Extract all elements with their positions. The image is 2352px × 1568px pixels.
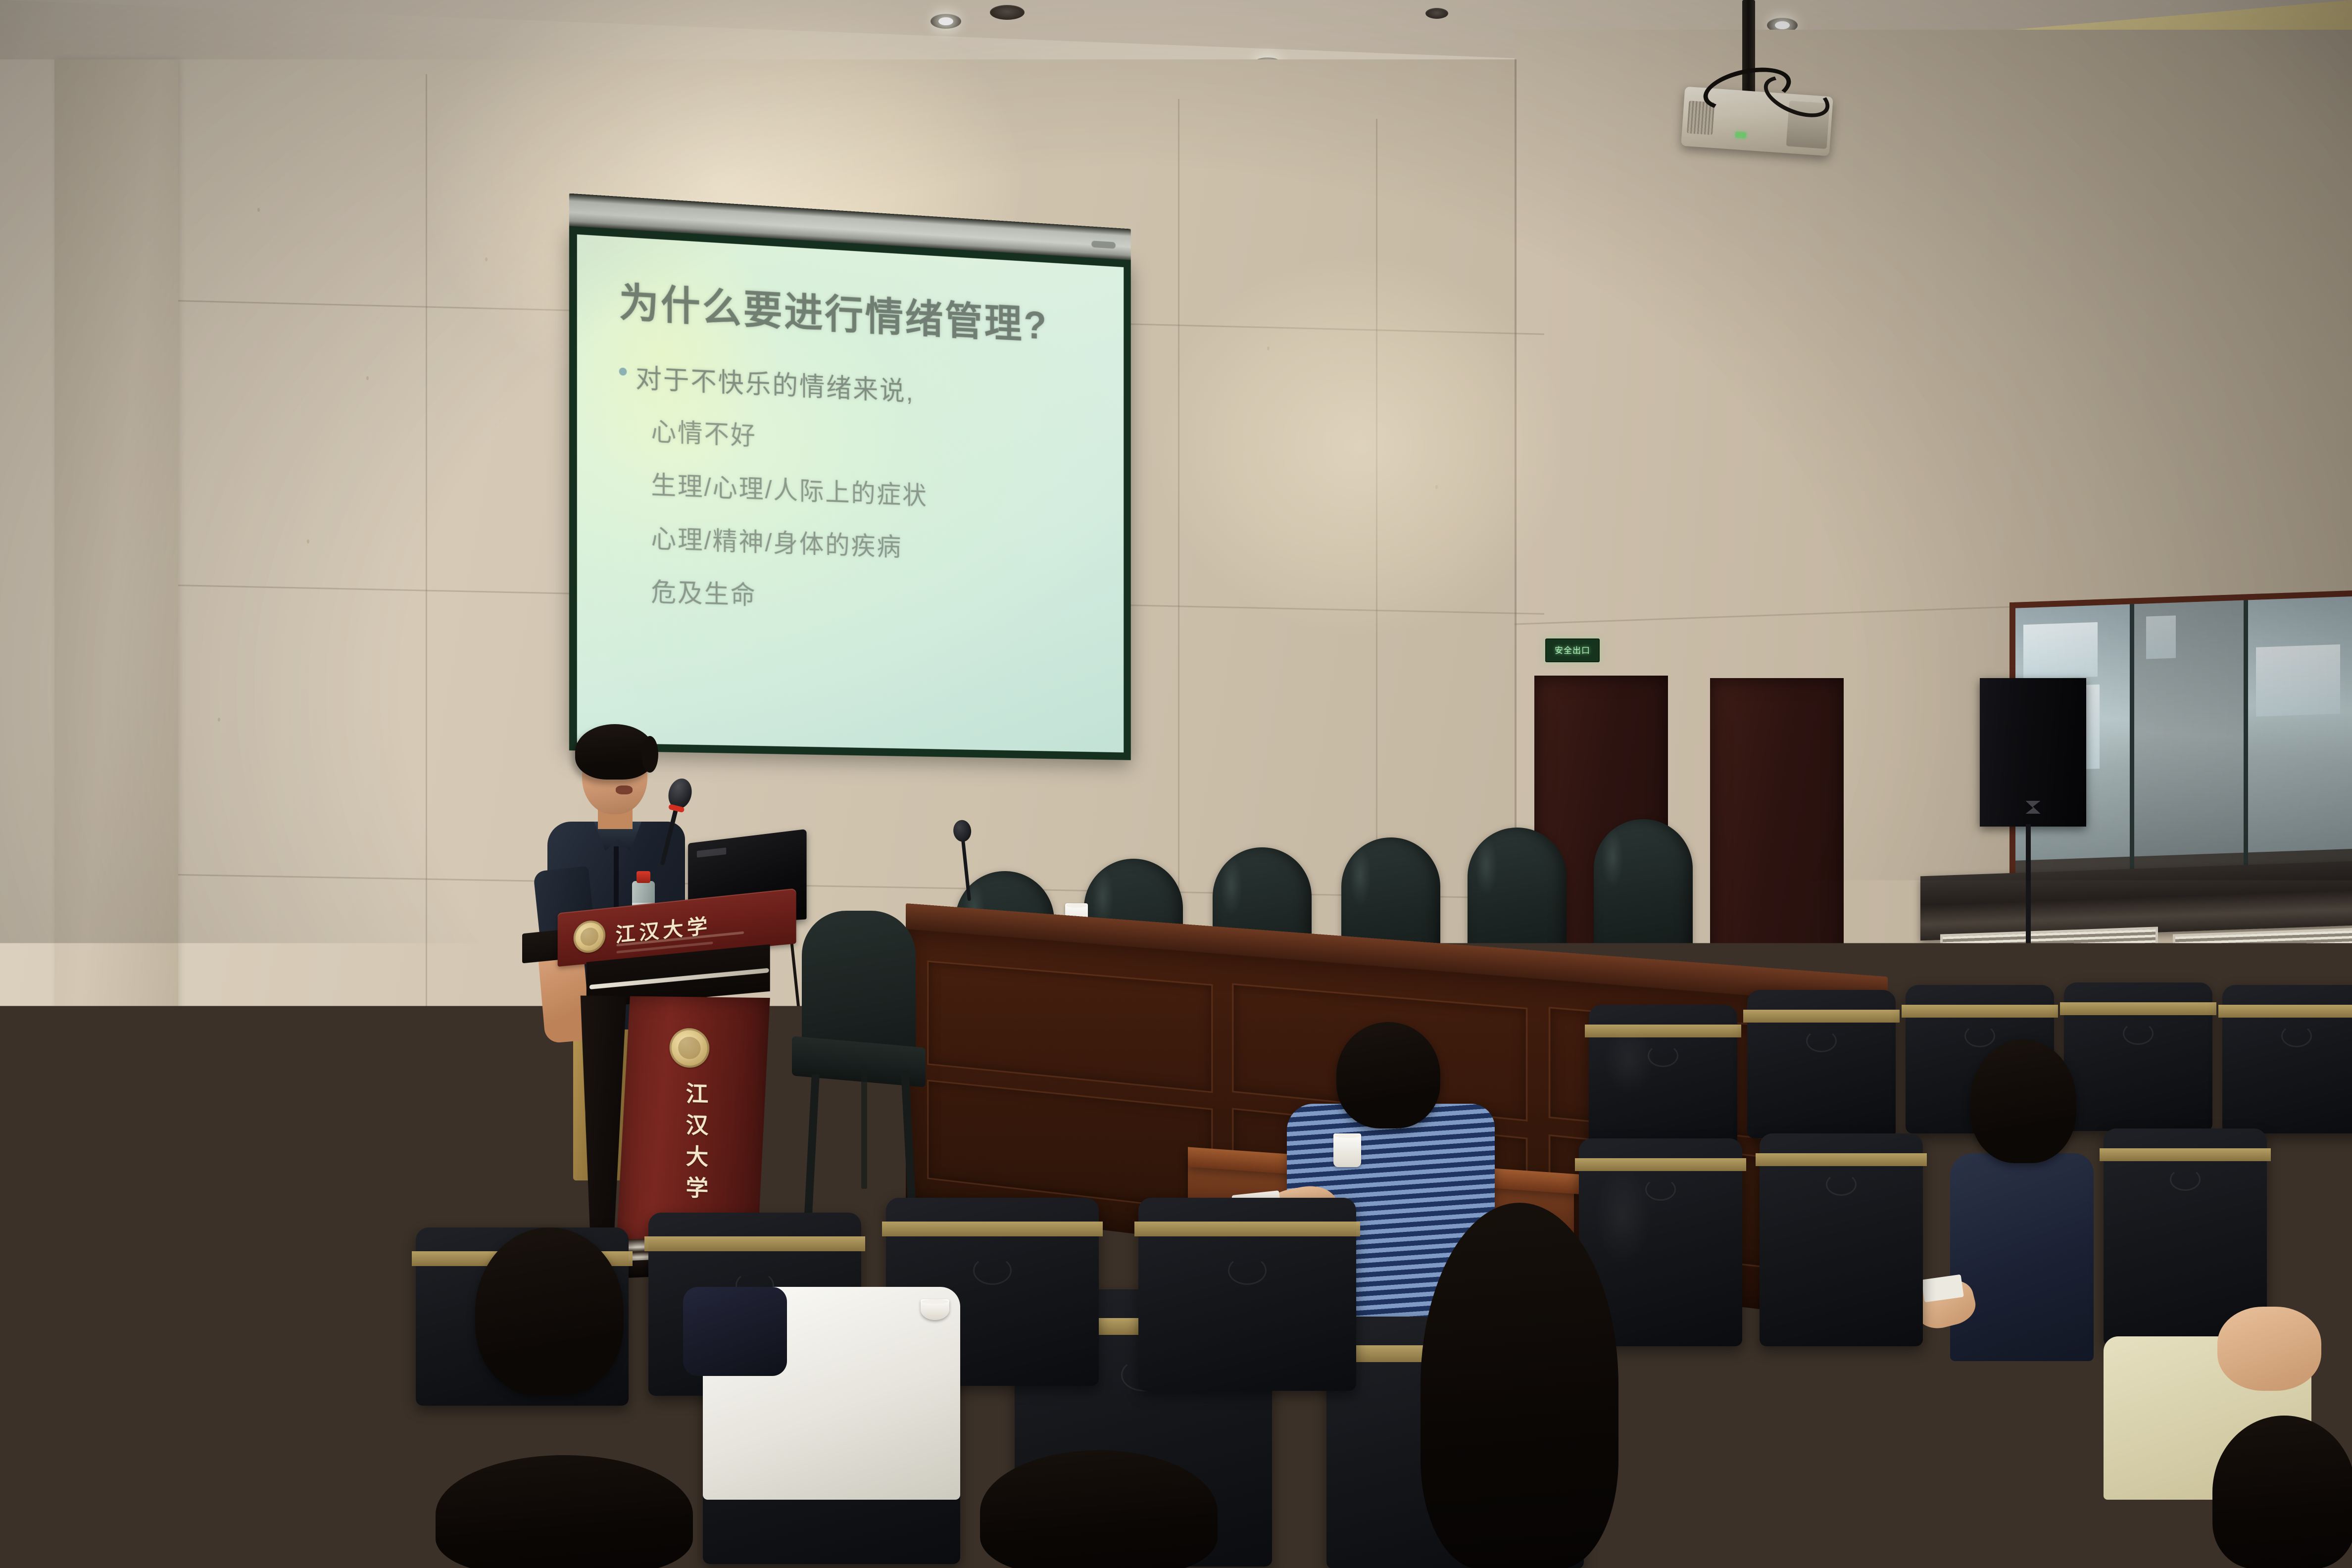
seat-dimple-icon xyxy=(1738,1439,1786,1474)
auditorium-seat[interactable] xyxy=(2222,985,2352,1133)
auditorium-seat[interactable] xyxy=(1138,1198,1356,1391)
paper-cup xyxy=(1333,1133,1361,1167)
audience-long-hair xyxy=(0,1359,163,1567)
screen-frame: 为什么要进行情绪管理? 对于不快乐的情绪来说, 心情不好 生理/心理/人际上的症… xyxy=(569,226,1131,760)
window-glare xyxy=(2023,622,2098,679)
seat-stripe xyxy=(2124,1396,2352,1414)
audience-long-hair xyxy=(1421,1203,1618,1568)
seat-stripe xyxy=(1134,1222,1360,1236)
seat-dimple-icon xyxy=(2123,1022,2154,1045)
seat-stripe xyxy=(2218,1005,2352,1018)
slide-bullet-text: 对于不快乐的情绪来说, xyxy=(636,356,914,408)
table-panel-inset xyxy=(927,1079,1213,1212)
ceiling-spotlight-icon xyxy=(931,14,961,29)
seat-fabric xyxy=(1752,1126,1931,1283)
emergency-exit-sign: 安全出口 xyxy=(1545,638,1600,662)
auditorium-seat[interactable] xyxy=(2064,982,2212,1131)
slide-subitem: 生理/心理/人际上的症状 xyxy=(651,464,1097,518)
podium-column-name: 江汉大学 xyxy=(678,1081,711,1208)
window-glare xyxy=(2256,644,2340,717)
wall-speck xyxy=(485,257,488,261)
auditorium-seat[interactable] xyxy=(2128,1366,2352,1568)
side-chair-back xyxy=(802,911,916,1054)
wall-speck xyxy=(218,718,220,722)
audience-bag xyxy=(683,1287,787,1376)
slide-subitem: 危及生命 xyxy=(651,572,1097,622)
seat-fabric xyxy=(1616,1358,1909,1512)
paper-cup xyxy=(921,1299,949,1320)
seat-fabric xyxy=(2120,1358,2352,1508)
bottle-cap xyxy=(637,871,650,883)
seat-dimple-icon xyxy=(1645,1178,1676,1201)
seat-stripe xyxy=(1743,1010,1900,1023)
side-chair[interactable] xyxy=(787,911,931,1227)
audience-long-hair xyxy=(436,1455,693,1568)
presenter-hair xyxy=(575,724,654,780)
slide-bullet-main: 对于不快乐的情绪来说, xyxy=(619,356,1097,417)
auditorium-seat[interactable] xyxy=(1623,1366,1901,1568)
wall-seam xyxy=(426,74,427,1094)
seat-stripe xyxy=(1756,1153,1927,1166)
seat-dimple-icon xyxy=(2281,1025,2312,1047)
seat-stripe xyxy=(2060,1002,2216,1015)
wall-speck xyxy=(1267,346,1270,350)
ceiling-spotlight-icon xyxy=(990,5,1025,20)
wall-speck xyxy=(307,539,309,543)
ceiling-spotlight-icon xyxy=(1425,8,1448,19)
screen-surface: 为什么要进行情绪管理? 对于不快乐的情绪来说, 心情不好 生理/心理/人际上的症… xyxy=(577,235,1124,753)
seat-dimple-icon xyxy=(2218,1439,2266,1474)
slide-subitem: 心情不好 xyxy=(651,411,1097,467)
wall-speck xyxy=(366,376,369,380)
pa-speaker xyxy=(1980,678,2086,827)
table-panel-inset xyxy=(927,961,1213,1093)
audience-long-hair xyxy=(980,1450,1218,1568)
seat-dimple-icon xyxy=(1964,1025,1995,1047)
seat-dimple-icon xyxy=(973,1256,1012,1285)
window-pane xyxy=(2134,600,2248,869)
university-crest-icon xyxy=(574,919,605,954)
slide-subitem: 心理/精神/身体的疾病 xyxy=(651,518,1097,570)
seat-stripe xyxy=(2100,1148,2271,1161)
seat-fabric xyxy=(2096,1121,2275,1282)
projector-status-led xyxy=(1735,132,1747,139)
side-chair-leg xyxy=(901,1070,917,1219)
auditorium-seat[interactable] xyxy=(1747,990,1896,1138)
screen-brand-badge xyxy=(1091,241,1116,248)
audience-head xyxy=(1336,1022,1440,1128)
slide-title: 为什么要进行情绪管理? xyxy=(619,269,1097,353)
seat-stripe xyxy=(644,1236,865,1251)
wall-power-outlet[interactable] xyxy=(20,1128,50,1157)
executive-chair[interactable] xyxy=(1594,819,1693,968)
seat-dimple-icon xyxy=(1826,1173,1857,1196)
window-pane xyxy=(2248,596,2352,865)
window-glare xyxy=(2146,615,2176,659)
bullet-dot-icon xyxy=(619,367,627,376)
projection-screen: 为什么要进行情绪管理? 对于不快乐的情绪来说, 心情不好 生理/心理/人际上的症… xyxy=(564,193,1140,795)
speaker-brand-logo-icon xyxy=(2026,801,2041,814)
exit-sign-label: 安全出口 xyxy=(1555,646,1590,655)
wall-speck xyxy=(1435,485,1438,489)
audience-head xyxy=(1970,1039,2076,1163)
seat-stripe xyxy=(1585,1025,1741,1037)
audience-long-hair xyxy=(1906,1371,2113,1568)
seat-dimple-icon xyxy=(1806,1029,1837,1052)
presenter-mouth xyxy=(616,785,633,794)
power-adapter xyxy=(375,1234,395,1267)
podium-column: 江汉大学 xyxy=(616,996,770,1248)
wall-speck xyxy=(257,208,260,212)
auditorium-seat[interactable] xyxy=(1760,1133,1923,1346)
seat-highlight xyxy=(1595,1168,1651,1263)
seat-dimple-icon xyxy=(2170,1168,2201,1191)
lecture-hall-photo: 为什么要进行情绪管理? 对于不快乐的情绪来说, 心情不好 生理/心理/人际上的症… xyxy=(0,0,2352,1568)
audience-member-navy-shirt xyxy=(1950,1153,2094,1361)
seat-stripe xyxy=(1619,1396,1905,1414)
audience-head xyxy=(475,1227,624,1396)
side-chair-leg xyxy=(804,1074,820,1223)
side-chair-leg xyxy=(861,1065,867,1189)
presentation-slide: 为什么要进行情绪管理? 对于不快乐的情绪来说, 心情不好 生理/心理/人际上的症… xyxy=(577,235,1124,623)
seat-stripe xyxy=(1575,1158,1746,1171)
seat-stripe xyxy=(882,1222,1103,1236)
seat-dimple-icon xyxy=(1228,1256,1267,1285)
seat-stripe xyxy=(1902,1005,2058,1018)
wall-pilaster xyxy=(54,59,178,1109)
seat-highlight xyxy=(1604,1026,1654,1094)
university-crest-icon xyxy=(670,1028,710,1068)
auditorium-seat[interactable] xyxy=(1589,1005,1737,1153)
